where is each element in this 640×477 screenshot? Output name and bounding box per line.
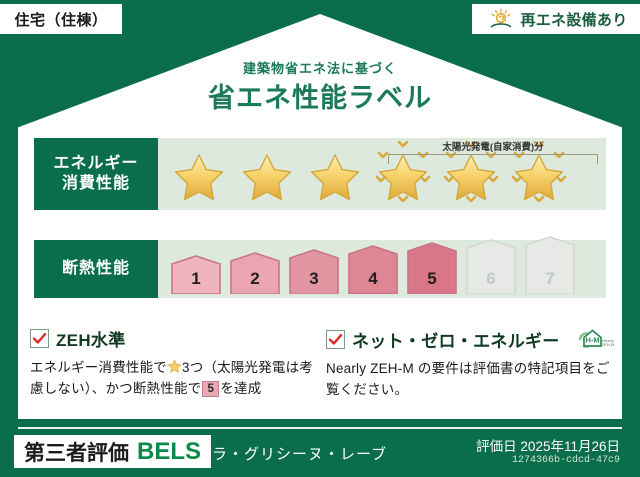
check-icon: [32, 331, 47, 346]
insulation-level-6: 6: [463, 239, 519, 294]
svg-text:ZEH-M: ZEH-M: [601, 342, 614, 347]
nzeb-checkbox[interactable]: [326, 330, 345, 349]
sun-solar-icon: [488, 8, 514, 30]
energy-key-line1: エネルギー: [53, 154, 138, 174]
insulation-level-number: 4: [345, 269, 401, 289]
star-filled: [234, 141, 300, 207]
insulation-performance-key: 断熱性能: [34, 240, 158, 298]
zeh-checkbox[interactable]: [30, 329, 49, 348]
insulation-level-1: 1: [168, 255, 224, 294]
energy-performance-value: 太陽光発電(自家消費)分: [158, 138, 606, 210]
insulation-performance-row: 断熱性能 1234567: [34, 240, 606, 298]
star-filled: [166, 141, 232, 207]
insulation-level-number: 5: [404, 269, 460, 289]
star-solar: [506, 141, 572, 207]
insulation-level-7: 7: [522, 236, 578, 294]
building-name: ラ・グリシーヌ・レーブ: [212, 443, 387, 464]
nzeb-title: ネット・ゼロ・エネルギー: [352, 327, 560, 352]
zeh-criteria-header: ZEH水準: [30, 326, 314, 351]
zeh-title: ZEH水準: [56, 326, 126, 351]
insulation-level-scale: 1234567: [158, 240, 578, 298]
building-type-tag: 住宅（住棟）: [0, 4, 122, 34]
zeh-text-part1: エネルギー消費性能で: [30, 360, 167, 375]
evaluation-date: 評価日 2025年11月26日: [476, 435, 620, 455]
insulation-level-number: 7: [522, 269, 578, 289]
insulation-level-number: 2: [227, 269, 283, 289]
bels-en-label: BELS: [137, 438, 201, 466]
renewable-equipment-label: 再エネ設備あり: [520, 9, 627, 30]
nzeb-description: Nearly ZEH-M の要件は評価書の特記項目をご覧ください。: [326, 359, 610, 401]
energy-key-line2: 消費性能: [62, 174, 130, 194]
insulation-level-3: 3: [286, 249, 342, 294]
nzeb-criteria-header: ネット・ゼロ・エネルギー H-M Nearly ZEH-M: [326, 326, 610, 352]
star-rating: [158, 141, 606, 207]
bels-badge: 第三者評価 BELS: [14, 435, 211, 468]
insulation-key-line1: 断熱性能: [62, 259, 130, 279]
insulation-level-4: 4: [345, 245, 401, 294]
nearly-zeh-m-logo: H-M Nearly ZEH-M: [569, 326, 615, 352]
insulation-level-2: 2: [227, 252, 283, 294]
star-solar: [370, 141, 436, 207]
insulation-level-number: 1: [168, 269, 224, 289]
zeh-text-part3: を達成: [220, 381, 261, 396]
label-title: 省エネ性能ラベル: [0, 76, 640, 115]
insulation-level-number: 3: [286, 269, 342, 289]
insulation-level-number: 6: [463, 269, 519, 289]
star-filled: [302, 141, 368, 207]
building-type-label: 住宅（住棟）: [14, 9, 107, 30]
label-subtitle: 建築物省エネ法に基づく: [0, 58, 640, 77]
star-solar: [438, 141, 504, 207]
energy-performance-key: エネルギー 消費性能: [34, 138, 158, 210]
label-footer: 第三者評価 BELS ラ・グリシーヌ・レーブ 評価日 2025年11月26日 1…: [0, 429, 640, 477]
nzeb-criteria-block: ネット・ゼロ・エネルギー H-M Nearly ZEH-M Nearly ZEH…: [326, 326, 610, 401]
insulation-level-badge: 5: [202, 381, 219, 397]
evaluation-id: 1274366b-cdcd-47c9: [512, 455, 620, 466]
zeh-criteria-block: ZEH水準 エネルギー消費性能で3つ（太陽光発電は考慮しない）、かつ断熱性能で5…: [30, 326, 314, 400]
footer-divider: [18, 427, 622, 429]
inline-star-icon: [167, 359, 182, 374]
insulation-level-5: 5: [404, 242, 460, 294]
svg-text:H-M: H-M: [585, 335, 599, 344]
zeh-description: エネルギー消費性能で3つ（太陽光発電は考慮しない）、かつ断熱性能で5を達成: [30, 358, 314, 400]
insulation-performance-value: 1234567: [158, 240, 606, 298]
check-icon: [328, 332, 343, 347]
bels-jp-label: 第三者評価: [24, 437, 129, 467]
energy-performance-label: 住宅（住棟） 再エネ設備あり 建築物省エネ法に基づく 省エネ性能ラベル: [0, 0, 640, 477]
renewable-equipment-tag: 再エネ設備あり: [472, 4, 640, 34]
energy-performance-row: エネルギー 消費性能 太陽光発電(自家消費)分: [34, 138, 606, 210]
